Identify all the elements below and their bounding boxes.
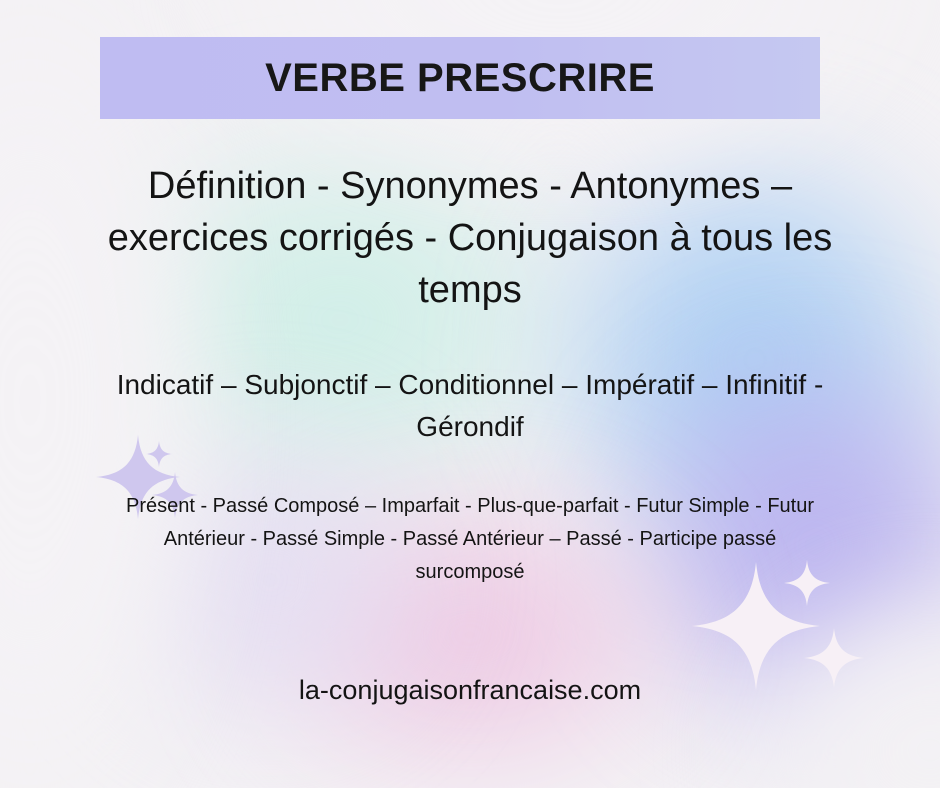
website-url: la-conjugaisonfrancaise.com [0, 673, 940, 707]
content-block: Définition - Synonymes - Antonymes – exe… [0, 160, 940, 707]
tenses-text: Présent - Passé Composé – Imparfait - Pl… [110, 490, 830, 589]
poster-canvas: VERBE PRESCRIRE Définition - Synonymes -… [0, 0, 940, 788]
subtitle-text: Définition - Synonymes - Antonymes – exe… [70, 160, 870, 316]
moods-text: Indicatif – Subjonctif – Conditionnel – … [110, 364, 830, 448]
title-banner: VERBE PRESCRIRE [100, 37, 820, 119]
page-title: VERBE PRESCRIRE [265, 56, 655, 101]
